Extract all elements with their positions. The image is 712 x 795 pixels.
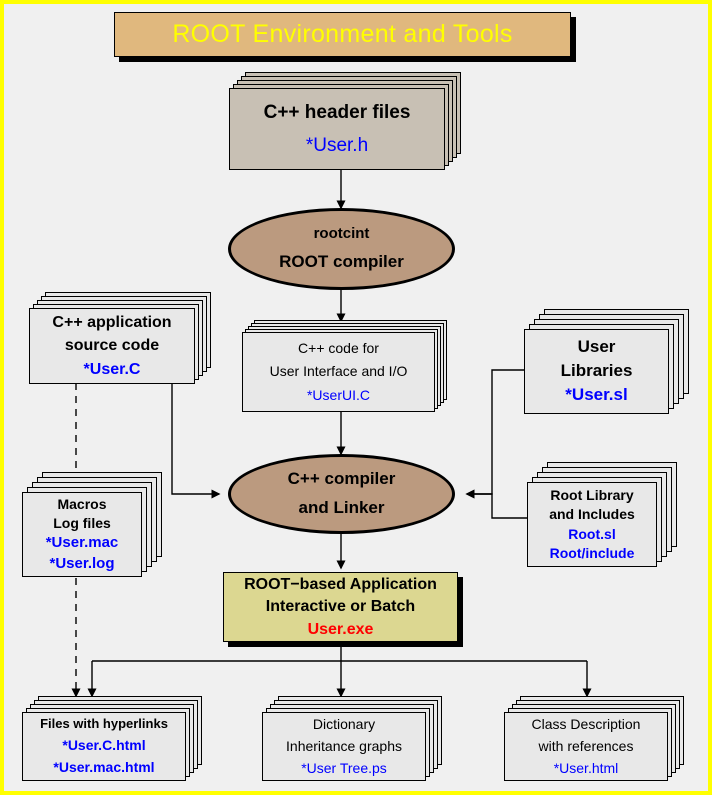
- node-line: Root.sl: [568, 526, 615, 543]
- page-title: ROOT Environment and Tools: [172, 20, 512, 49]
- node-dictionary-inheritance-graphs: Dictionary Inheritance graphs *User Tree…: [262, 696, 442, 781]
- node-card: C++ code for User Interface and I/O *Use…: [242, 332, 435, 412]
- node-card: Class Description with references *User.…: [504, 712, 668, 781]
- node-line: C++ code for: [298, 340, 379, 357]
- node-line: *User.C: [84, 360, 141, 380]
- node-line: ROOT compiler: [279, 252, 404, 273]
- node-card: C++ header files *User.h: [229, 88, 445, 170]
- node-files-with-hyperlinks: Files with hyperlinks *User.C.html *User…: [22, 696, 202, 781]
- node-cpp-compiler-linker: C++ compiler and Linker: [228, 454, 455, 534]
- node-line: *User.log: [49, 555, 114, 573]
- edge-rootlib-to-compiler: [467, 494, 527, 518]
- node-cpp-header-files: C++ header files *User.h: [229, 72, 461, 172]
- node-line: Inheritance graphs: [286, 738, 402, 755]
- node-line: Libraries: [561, 361, 633, 382]
- node-line: *UserUI.C: [307, 387, 370, 404]
- node-line: *User.html: [554, 760, 619, 777]
- node-root-library-includes: Root Library and Includes Root.sl Root/i…: [527, 462, 677, 567]
- node-cpp-application-source: C++ application source code *User.C: [29, 292, 214, 384]
- node-line: User: [578, 337, 616, 358]
- node-line: C++ header files: [264, 101, 411, 124]
- edge-appsource-to-compiler: [172, 383, 219, 494]
- node-line: *User.mac: [46, 534, 119, 552]
- node-line: Files with hyperlinks: [40, 716, 168, 732]
- node-card: Macros Log files *User.mac *User.log: [22, 492, 142, 577]
- node-line: and Includes: [549, 506, 635, 523]
- node-class-description: Class Description with references *User.…: [504, 696, 684, 781]
- node-card: Root Library and Includes Root.sl Root/i…: [527, 482, 657, 567]
- node-line: *User.h: [306, 134, 368, 157]
- node-line: source code: [65, 336, 159, 356]
- node-line: with references: [539, 738, 634, 755]
- node-root-based-application: ROOT−based Application Interactive or Ba…: [223, 572, 458, 642]
- node-line: *User.sl: [565, 385, 627, 406]
- node-line: and Linker: [299, 498, 385, 519]
- node-line: Log files: [53, 515, 111, 532]
- node-line: Class Description: [532, 716, 641, 733]
- edge-userlibs-to-compiler: [467, 370, 524, 494]
- node-line: *User.C.html: [62, 737, 145, 754]
- diagram-canvas: ROOT Environment and Tools C++ header fi…: [0, 0, 712, 795]
- node-line: Root/include: [550, 545, 635, 562]
- node-line: rootcint: [314, 225, 370, 243]
- node-card: Files with hyperlinks *User.C.html *User…: [22, 712, 186, 781]
- node-card: Dictionary Inheritance graphs *User Tree…: [262, 712, 426, 781]
- node-line: *User Tree.ps: [301, 760, 387, 777]
- node-card: User Libraries *User.sl: [524, 329, 669, 414]
- node-user-libraries: User Libraries *User.sl: [524, 309, 689, 414]
- node-line: *User.mac.html: [53, 759, 154, 776]
- node-card: C++ application source code *User.C: [29, 308, 195, 384]
- node-line: User.exe: [308, 620, 374, 640]
- node-line: Root Library: [550, 487, 633, 504]
- node-line: C++ compiler: [288, 469, 396, 490]
- node-line: Dictionary: [313, 716, 375, 733]
- node-rootcint: rootcint ROOT compiler: [228, 208, 455, 290]
- node-line: Interactive or Batch: [266, 597, 415, 617]
- diagram-title-banner: ROOT Environment and Tools: [114, 12, 571, 57]
- node-line: Macros: [57, 496, 106, 513]
- node-cpp-ui-code: C++ code for User Interface and I/O *Use…: [242, 320, 447, 412]
- node-line: ROOT−based Application: [244, 575, 437, 595]
- node-line: User Interface and I/O: [270, 363, 408, 380]
- node-macros-log-files: Macros Log files *User.mac *User.log: [22, 472, 162, 577]
- node-line: C++ application: [52, 313, 171, 333]
